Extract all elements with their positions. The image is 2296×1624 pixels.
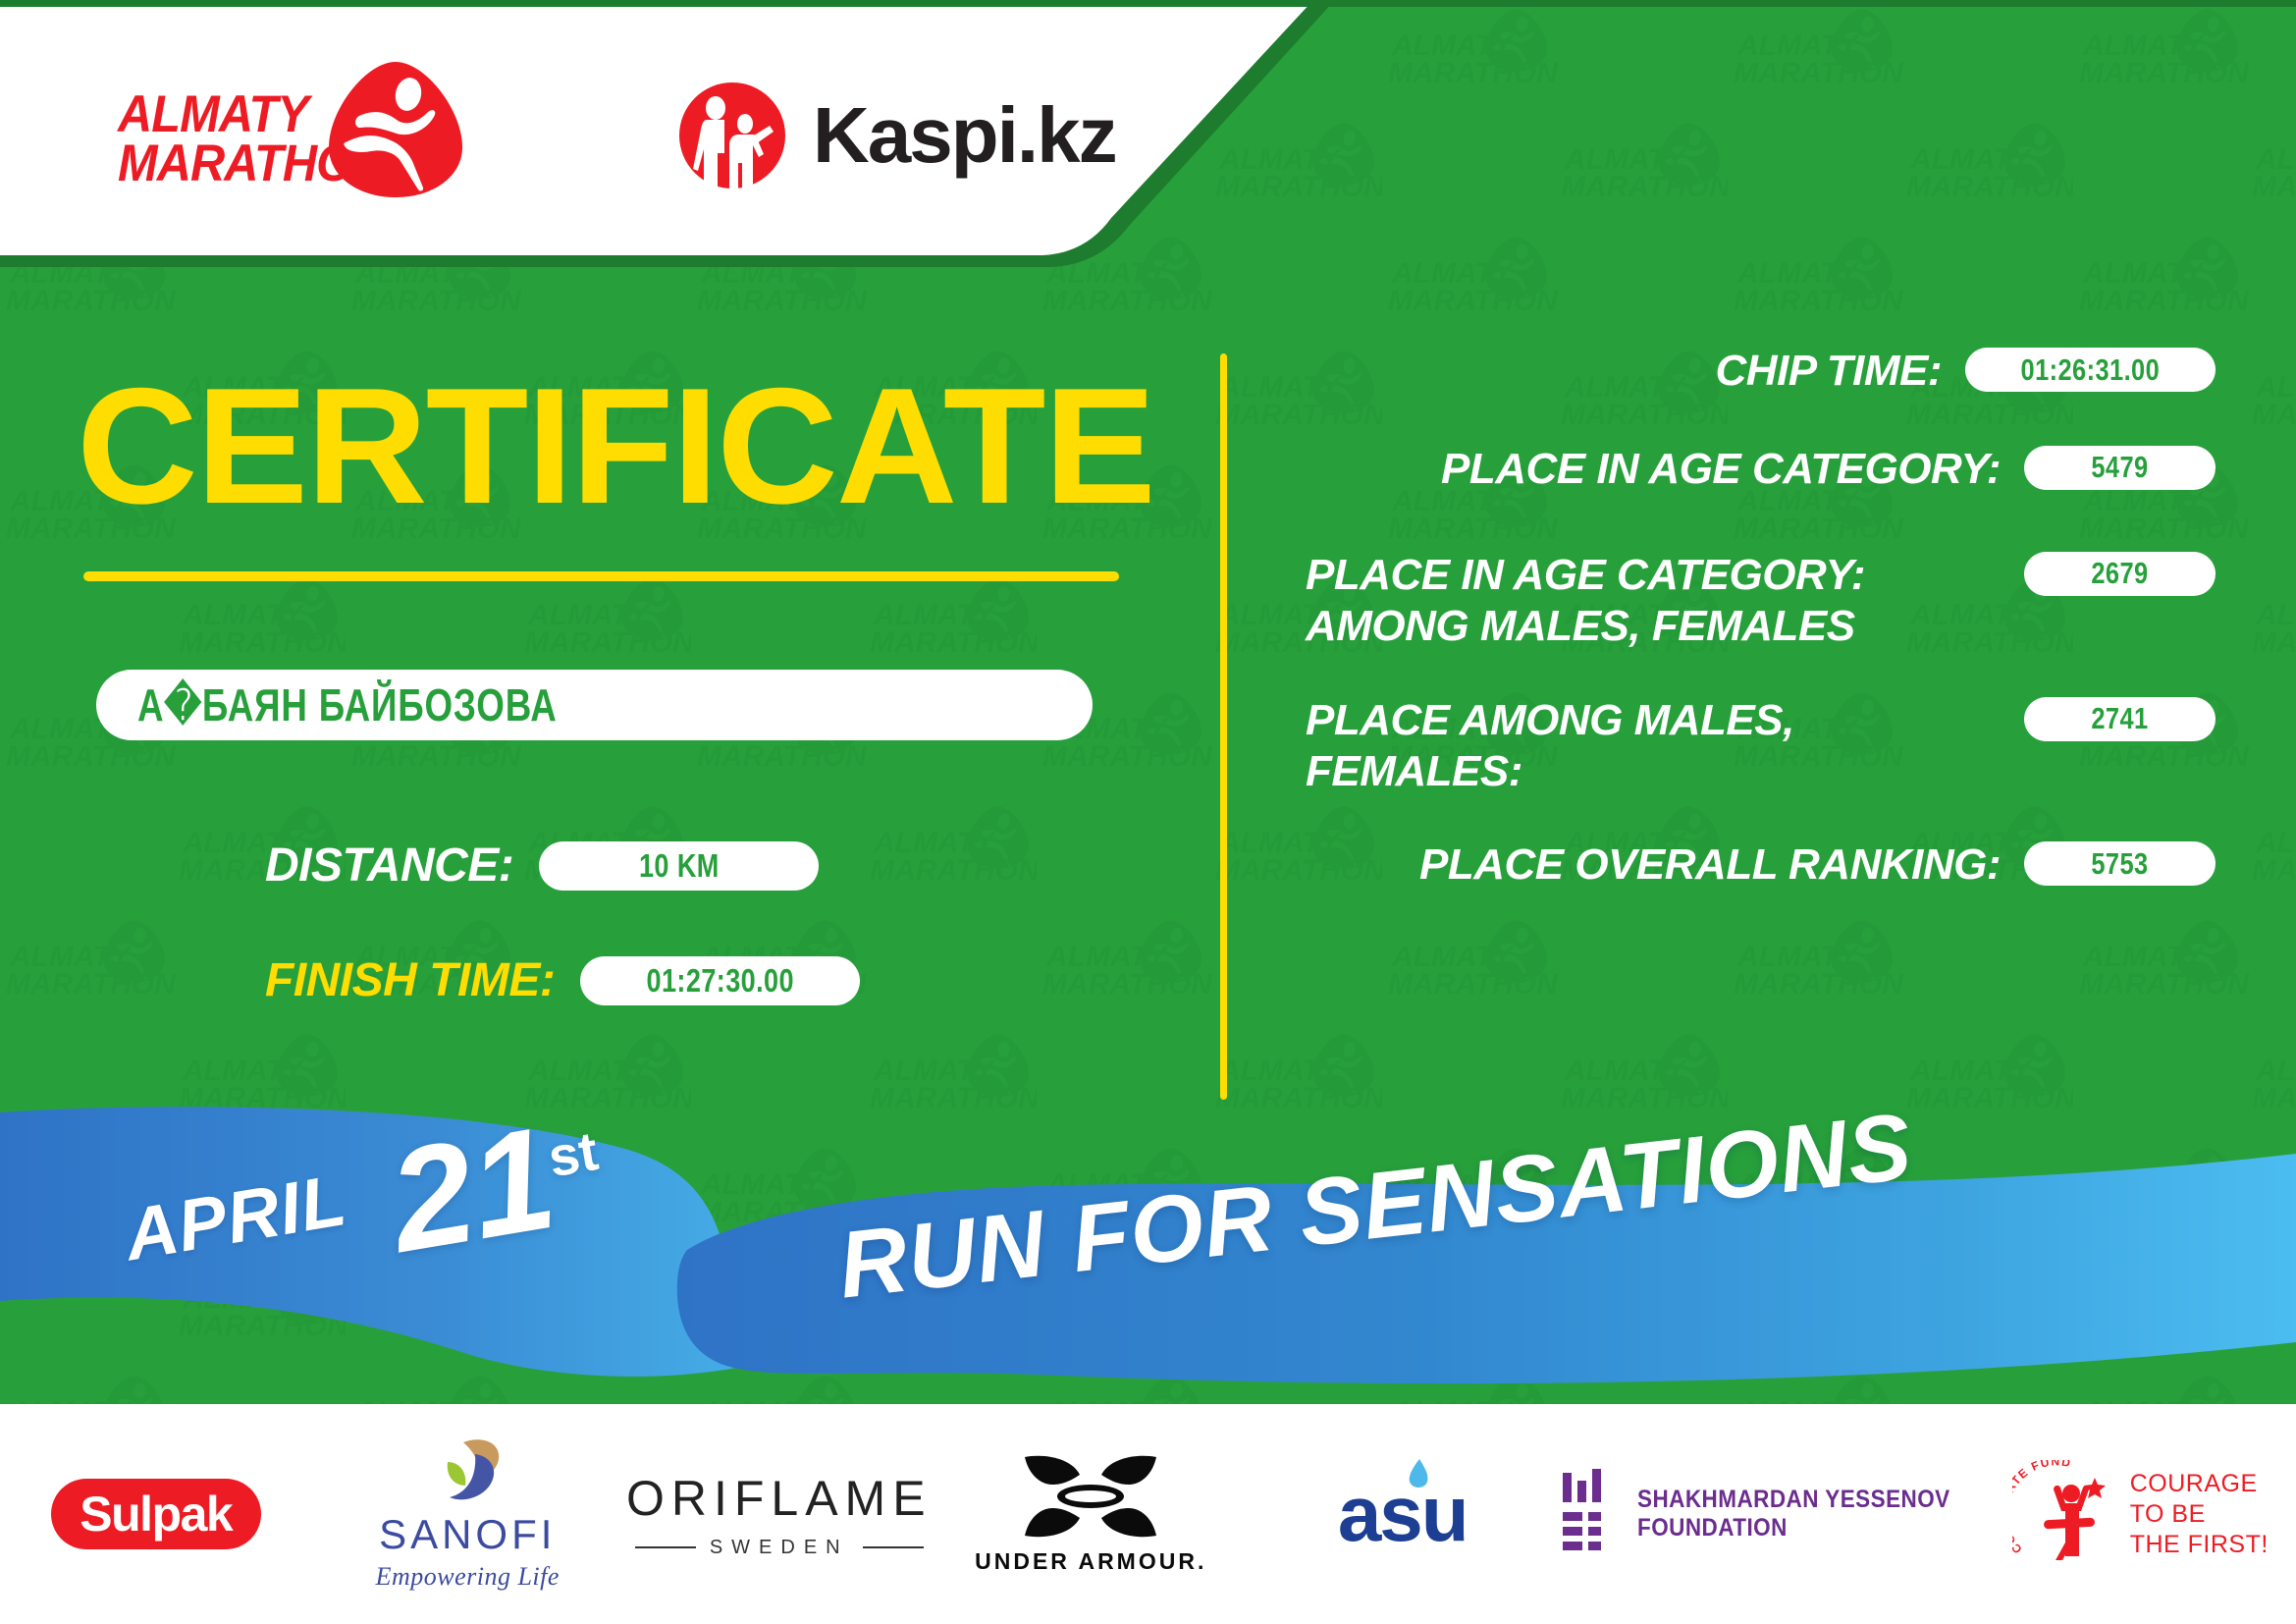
courage-line-3: THE FIRST! (2130, 1530, 2269, 1560)
finish-time-label: FINISH TIME: (265, 953, 555, 1007)
distance-row: DISTANCE: 10 KM (265, 839, 1217, 893)
yessenov-foundation-logo: SHAKHMARDAN YESSENOV FOUNDATION (1559, 1469, 1985, 1559)
stat-value: 01:26:31.00 (2021, 352, 2161, 388)
page-title: CERTIFICATE (77, 363, 1240, 528)
oriflame-wordmark: ORIFLAME (626, 1470, 933, 1527)
stat-row-place-age-category: PLACE IN AGE CATEGORY: 5479 (1227, 444, 2296, 495)
under-armour-wordmark: UNDER ARMOUR. (975, 1548, 1206, 1575)
sponsor-asu: asu (1247, 1440, 1559, 1588)
stat-value-pill: 01:26:31.00 (1965, 348, 2216, 392)
stat-row-place-age-among-gender: PLACE IN AGE CATEGORY: AMONG MALES, FEMA… (1227, 550, 2296, 652)
sanofi-logo: SANOFI Empowering Life (376, 1436, 560, 1592)
asu-droplet-icon (1407, 1457, 1432, 1490)
left-column: CERTIFICATE А�БАЯН БАЙБОЗОВА DISTANCE: 1… (0, 295, 1217, 1007)
sponsor-courage-fund: CORPORATE FUND COURAGE TO BE THE FIRST! (1985, 1440, 2296, 1588)
finish-time-value-pill: 01:27:30.00 (580, 956, 860, 1005)
finish-time-row: FINISH TIME: 01:27:30.00 (265, 953, 1217, 1007)
sanofi-mark-icon (420, 1436, 514, 1507)
stats-column: CHIP TIME: 01:26:31.00 PLACE IN AGE CATE… (1227, 346, 2296, 896)
title-underline (83, 571, 1119, 581)
stat-value-pill: 5479 (2024, 446, 2216, 490)
courage-wordmark: COURAGE TO BE THE FIRST! (2130, 1469, 2269, 1560)
participant-name: А�БАЯН БАЙБОЗОВА (137, 682, 558, 728)
sulpak-wordmark: Sulpak (80, 1486, 232, 1543)
yessenov-wordmark: SHAKHMARDAN YESSENOV FOUNDATION (1637, 1486, 1985, 1543)
stat-value: 5479 (2091, 450, 2148, 485)
runner-drop-icon (326, 59, 465, 200)
distance-label: DISTANCE: (265, 839, 513, 893)
courage-line-1: COURAGE (2130, 1469, 2269, 1499)
stat-value: 2679 (2091, 556, 2148, 591)
under-armour-logo: UNDER ARMOUR. (975, 1453, 1206, 1575)
stat-value: 5753 (2091, 846, 2148, 882)
stat-label: PLACE IN AGE CATEGORY: (1227, 444, 2001, 495)
sponsor-sulpak: Sulpak (0, 1440, 312, 1588)
yessenov-line-1: SHAKHMARDAN YESSENOV (1637, 1486, 1950, 1515)
yessenov-line-2: FOUNDATION (1637, 1514, 1950, 1543)
stat-label-line-2: FEMALES: (1306, 746, 2001, 797)
stat-value-pill: 5753 (2024, 841, 2216, 886)
sulpak-logo: Sulpak (51, 1479, 261, 1549)
kaspi-logo: Kaspi.kz (677, 77, 1116, 194)
oriflame-logo: ORIFLAME SWEDEN (626, 1470, 933, 1559)
stat-label-line-2: AMONG MALES, FEMALES (1306, 601, 2001, 652)
courage-runner-icon: CORPORATE FUND (2012, 1460, 2118, 1568)
participant-name-field: А�БАЯН БАЙБОЗОВА (96, 670, 1093, 740)
courage-line-2: TO BE (2130, 1499, 2269, 1530)
stat-label: CHIP TIME: (1227, 346, 1942, 397)
stat-value-pill: 2679 (2024, 552, 2216, 596)
courage-to-be-the-first-logo: CORPORATE FUND COURAGE TO BE THE FIRST! (2012, 1460, 2269, 1568)
sanofi-wordmark: SANOFI (379, 1511, 556, 1558)
stat-value-pill: 2741 (2024, 697, 2216, 741)
sponsor-under-armour: UNDER ARMOUR. (935, 1440, 1248, 1588)
stat-label: PLACE OVERALL RANKING: (1227, 839, 2001, 891)
stat-label-line-1: PLACE IN AGE CATEGORY: (1306, 550, 2001, 601)
column-divider (1220, 353, 1227, 1100)
header-logo-group: ALMATY MARATHON Kaspi.kz (0, 0, 1178, 275)
asu-wordmark: asu (1338, 1470, 1468, 1557)
sanofi-tagline: Empowering Life (376, 1562, 560, 1592)
stat-row-place-among-gender: PLACE AMONG MALES, FEMALES: 2741 (1227, 695, 2296, 797)
stat-label: PLACE IN AGE CATEGORY: AMONG MALES, FEMA… (1227, 550, 2001, 652)
oriflame-subtitle: SWEDEN (710, 1537, 849, 1559)
sponsor-oriflame: ORIFLAME SWEDEN (623, 1440, 935, 1588)
divider-line-left (635, 1546, 696, 1548)
oriflame-subtitle-row: SWEDEN (635, 1537, 924, 1559)
yessenov-bars-icon (1559, 1469, 1616, 1559)
under-armour-icon (1017, 1453, 1164, 1540)
stat-row-place-overall: PLACE OVERALL RANKING: 5753 (1227, 839, 2296, 891)
stat-label-line-1: PLACE AMONG MALES, (1306, 695, 2001, 746)
sponsor-strip: Sulpak SANOFI Empowering Life ORIFLAME S… (0, 1404, 2296, 1624)
sponsor-yessenov-foundation: SHAKHMARDAN YESSENOV FOUNDATION (1559, 1440, 1985, 1588)
almaty-marathon-logo: ALMATY MARATHON (118, 61, 442, 208)
distance-value: 10 KM (639, 847, 720, 885)
stat-label: PLACE AMONG MALES, FEMALES: (1227, 695, 2001, 797)
asu-logo: asu (1338, 1469, 1468, 1559)
distance-value-pill: 10 KM (539, 841, 819, 891)
finish-time-value: 01:27:30.00 (647, 962, 794, 1000)
certificate-page: ALMATY MARATHON Kaspi.kz CERT (0, 0, 2296, 1624)
stat-row-chip-time: CHIP TIME: 01:26:31.00 (1227, 346, 2296, 397)
sponsor-sanofi: SANOFI Empowering Life (312, 1440, 624, 1588)
kaspi-wordmark: Kaspi.kz (813, 90, 1116, 181)
stat-value: 2741 (2091, 701, 2148, 736)
kaspi-people-circle-icon (677, 81, 787, 190)
divider-line-right (863, 1546, 924, 1548)
